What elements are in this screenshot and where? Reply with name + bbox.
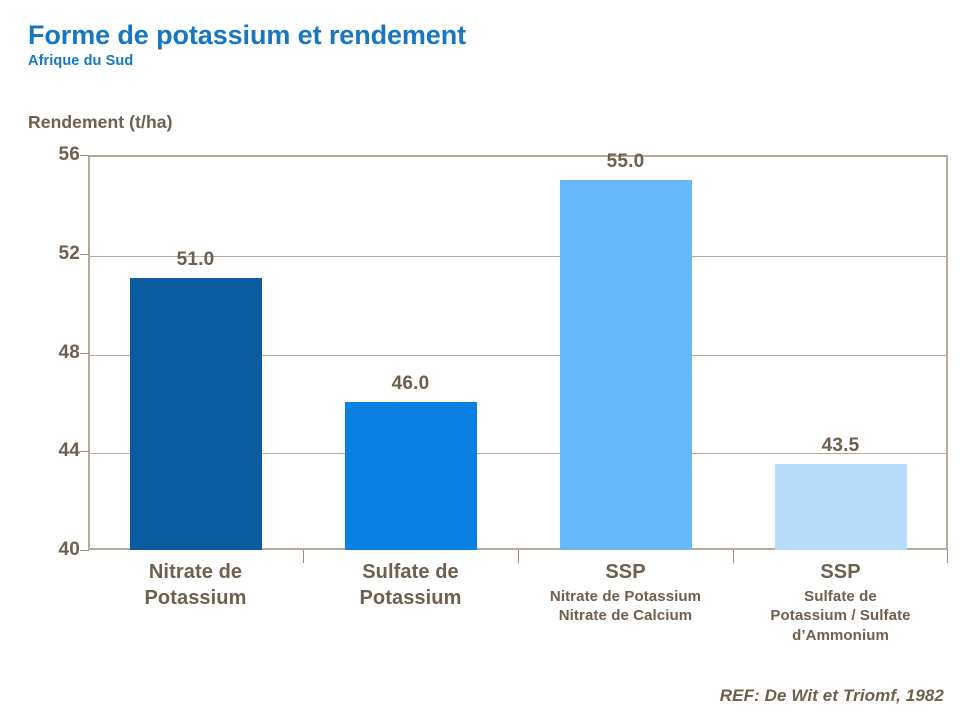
category-label-line: Potassium [303,586,518,612]
chart-header: Forme de potassium et rendement Afrique … [28,20,928,69]
y-tick-mark [80,155,89,156]
y-tick-mark [80,353,89,354]
bar[interactable] [560,180,692,550]
category-label: SSPNitrate de PotassiumNitrate de Calciu… [518,560,733,626]
category-label-line: d’Ammonium [733,626,948,646]
category-label-sub: Sulfate dePotassium / Sulfated’Ammonium [733,587,948,646]
category-label-main: Sulfate dePotassium [303,560,518,611]
category-label-main: SSP [518,560,733,586]
y-tick-label: 48 [28,342,80,364]
y-tick-mark [80,451,89,452]
category-label-sub: Nitrate de PotassiumNitrate de Calcium [518,587,733,626]
category-label-line: Sulfate de [303,560,518,586]
category-label-main: SSP [733,560,948,586]
category-label-line: SSP [733,560,948,586]
bar[interactable] [775,464,907,550]
x-axis-category-labels: Nitrate dePotassiumSulfate dePotassiumSS… [88,560,948,670]
y-tick-label: 40 [28,539,80,561]
y-tick-label: 56 [28,144,80,166]
category-label-line: Potassium [88,586,303,612]
y-axis-title: Rendement (t/ha) [28,112,173,133]
bar[interactable] [345,402,477,550]
page-subtitle: Afrique du Sud [28,53,928,69]
category-label-line: Potassium / Sulfate [733,606,948,626]
y-tick-mark [80,254,89,255]
category-label-line: Nitrate de Potassium [518,587,733,607]
page-title: Forme de potassium et rendement [28,20,928,50]
reference-note: REF: De Wit et Triomf, 1982 [720,686,944,706]
category-label-line: Nitrate de Calcium [518,606,733,626]
category-label-main: Nitrate dePotassium [88,560,303,611]
category-label-line: Nitrate de [88,560,303,586]
category-label-line: Sulfate de [733,587,948,607]
category-label-line: SSP [518,560,733,586]
category-label: SSPSulfate dePotassium / Sulfated’Ammoni… [733,560,948,645]
y-axis-tick-labels: 4044485256 [20,155,80,550]
category-label: Nitrate dePotassium [88,560,303,611]
gridline [90,256,946,257]
y-tick-label: 44 [28,440,80,462]
bar[interactable] [130,278,262,550]
category-label: Sulfate dePotassium [303,560,518,611]
y-tick-label: 52 [28,243,80,265]
